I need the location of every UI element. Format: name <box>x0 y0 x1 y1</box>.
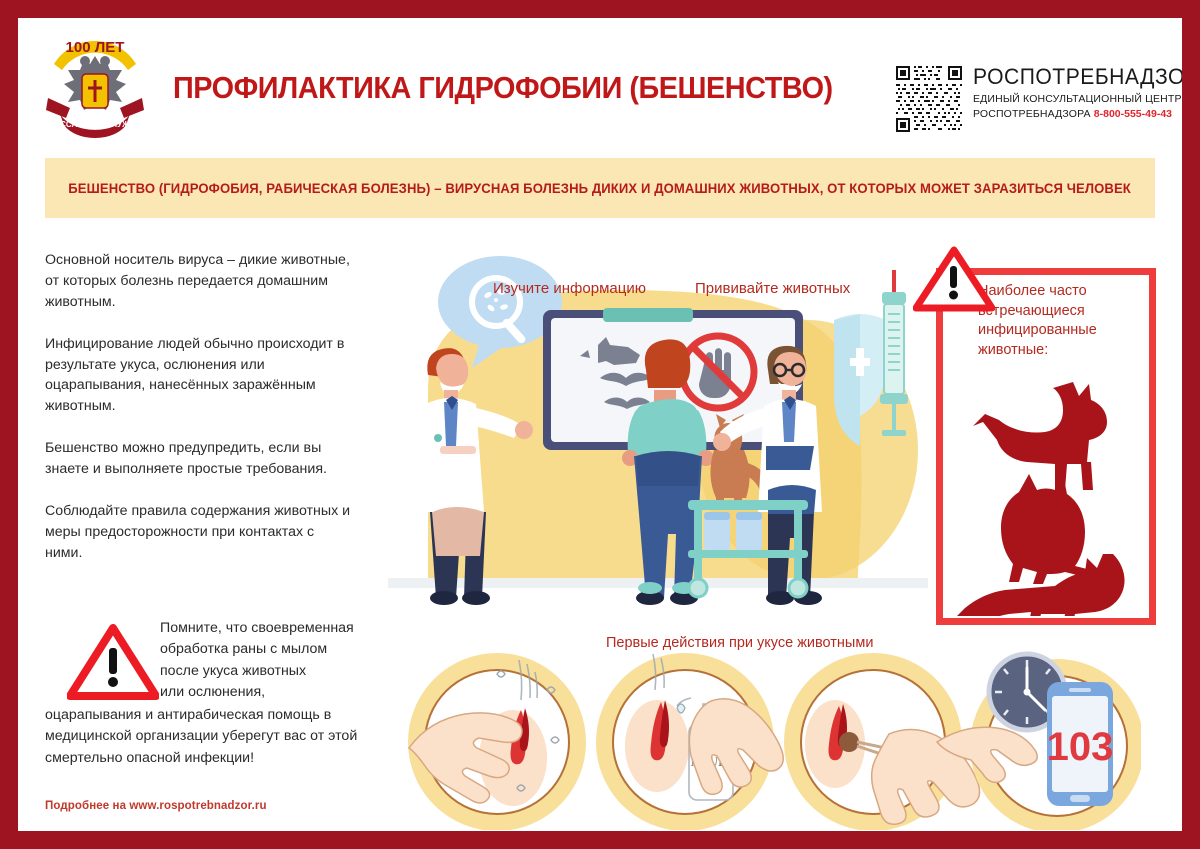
animals-heading-line: Наиболее часто <box>978 282 1148 302</box>
svg-text:100 ЛЕТ: 100 ЛЕТ <box>66 39 125 56</box>
info-paragraph: Инфицирование людей обычно происходит в … <box>45 334 355 418</box>
page-title: ПРОФИЛАКТИКА ГИДРОФОБИИ (БЕШЕНСТВО) <box>173 70 815 106</box>
wash-wound-soap-icon: МЫЛО <box>605 654 783 822</box>
warning-block: Помните, что своевременная обработка ран… <box>45 618 363 769</box>
warning-triangle-icon <box>67 624 159 700</box>
first-aid-steps: МЫЛО <box>401 650 1141 830</box>
brand-block: РОСПОТРЕБНАДЗОР ЕДИНЫЙ КОНСУЛЬТАЦИОННЫЙ … <box>973 64 1173 120</box>
definition-banner-text: БЕШЕНСТВО (ГИДРОФОБИЯ, РАБИЧЕСКАЯ БОЛЕЗН… <box>45 181 1141 196</box>
animals-panel-heading: Наиболее часто встречающиеся инфицирован… <box>978 282 1148 360</box>
more-info-link[interactable]: Подробнее на www.rospotrebnadzor.ru <box>45 800 267 812</box>
emergency-number: 103 <box>1047 725 1114 769</box>
qr-code-icon <box>896 66 962 132</box>
poster-header: 100 ЛЕТ ГОССАНЭПИДСЛУЖБА ПРОФИЛАКТИКА ГИ… <box>18 18 1182 148</box>
first-aid-illustrations: МЫЛО <box>401 650 1141 830</box>
brand-name: РОСПОТРЕБНАДЗОР <box>973 64 1165 90</box>
dog-silhouette-icon <box>973 382 1107 490</box>
poster-canvas: 100 ЛЕТ ГОССАНЭПИДСЛУЖБА ПРОФИЛАКТИКА ГИ… <box>18 18 1182 831</box>
wash-wound-water-icon <box>409 660 577 822</box>
brand-line-2-text: РОСПОТРЕБНАДЗОРА <box>973 108 1091 120</box>
left-text-column: Основной носитель вируса – дикие животны… <box>45 250 355 585</box>
clinic-scene-illustration <box>388 250 928 625</box>
info-paragraph: Бешенство можно предупредить, если вы зн… <box>45 438 355 480</box>
warning-triangle-icon <box>913 246 995 312</box>
info-paragraph: Основной носитель вируса – дикие животны… <box>45 250 355 313</box>
phone-icon: 103 <box>1047 682 1114 806</box>
infected-animals-silhouettes <box>953 376 1143 616</box>
center-illustration: Изучите информацию Прививайте животных <box>388 250 928 625</box>
animals-heading-line: животные: <box>978 341 1148 361</box>
label-vaccinate-animals: Прививайте животных <box>695 280 850 297</box>
animals-heading-line: инфицированные <box>978 321 1148 341</box>
info-paragraph: Соблюдайте правила содержания животных и… <box>45 501 355 564</box>
definition-banner: БЕШЕНСТВО (ГИДРОФОБИЯ, РАБИЧЕСКАЯ БОЛЕЗН… <box>45 158 1155 218</box>
animals-heading-line: встречающиеся <box>978 302 1148 322</box>
warning-rest: оцарапывания и антирабическая помощь в м… <box>45 705 363 769</box>
brand-line-2: РОСПОТРЕБНАДЗОРА 8-800-555-49-43 <box>973 108 1173 120</box>
rospotrebnadzor-emblem-icon: 100 ЛЕТ ГОССАНЭПИДСЛУЖБА <box>40 26 150 141</box>
brand-line-1: ЕДИНЫЙ КОНСУЛЬТАЦИОННЫЙ ЦЕНТР <box>973 93 1173 105</box>
hotline-phone[interactable]: 8-800-555-49-43 <box>1094 108 1172 120</box>
label-first-actions: Первые действия при укусе животными <box>606 635 873 651</box>
svg-text:ГОССАНЭПИДСЛУЖБА: ГОССАНЭПИДСЛУЖБА <box>49 120 140 129</box>
label-study-information: Изучите информацию <box>493 280 646 297</box>
